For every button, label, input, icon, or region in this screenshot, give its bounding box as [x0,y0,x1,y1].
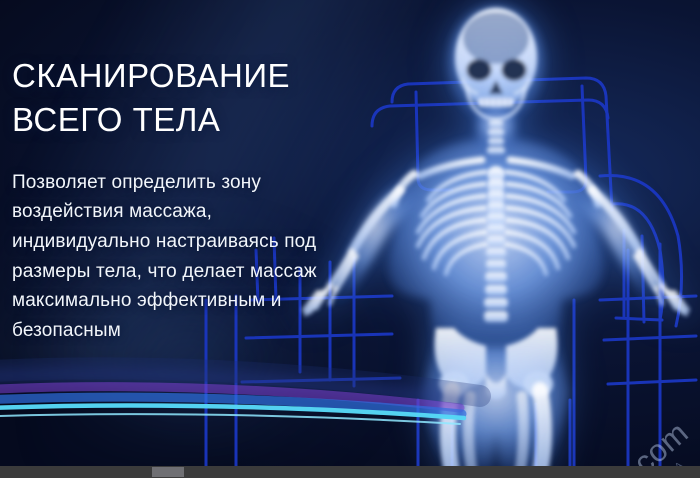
page-title: СКАНИРОВАНИЕ ВСЕГО ТЕЛА [12,54,342,142]
screenshot-root: СКАНИРОВАНИЕ ВСЕГО ТЕЛА Позволяет опреде… [0,0,700,478]
light-swoosh-arc [0,340,500,460]
watermark-tagline: СОЗДАЙ СВОЮ ЗОНУ СПОРТА [518,442,700,466]
slide-copy: СКАНИРОВАНИЕ ВСЕГО ТЕЛА Позволяет опреде… [12,54,342,346]
xray-body-figure [286,0,700,466]
scrollbar-thumb[interactable] [152,467,184,477]
watermark-brand: ZonaSporta.com [494,415,695,466]
watermark: ZonaSporta.com СОЗДАЙ СВОЮ ЗОНУ СПОРТА [494,415,700,466]
horizontal-scrollbar[interactable] [0,466,700,478]
slide-description: Позволяет определить зону воздействия ма… [12,168,342,346]
promo-slide: СКАНИРОВАНИЕ ВСЕГО ТЕЛА Позволяет опреде… [0,0,700,466]
